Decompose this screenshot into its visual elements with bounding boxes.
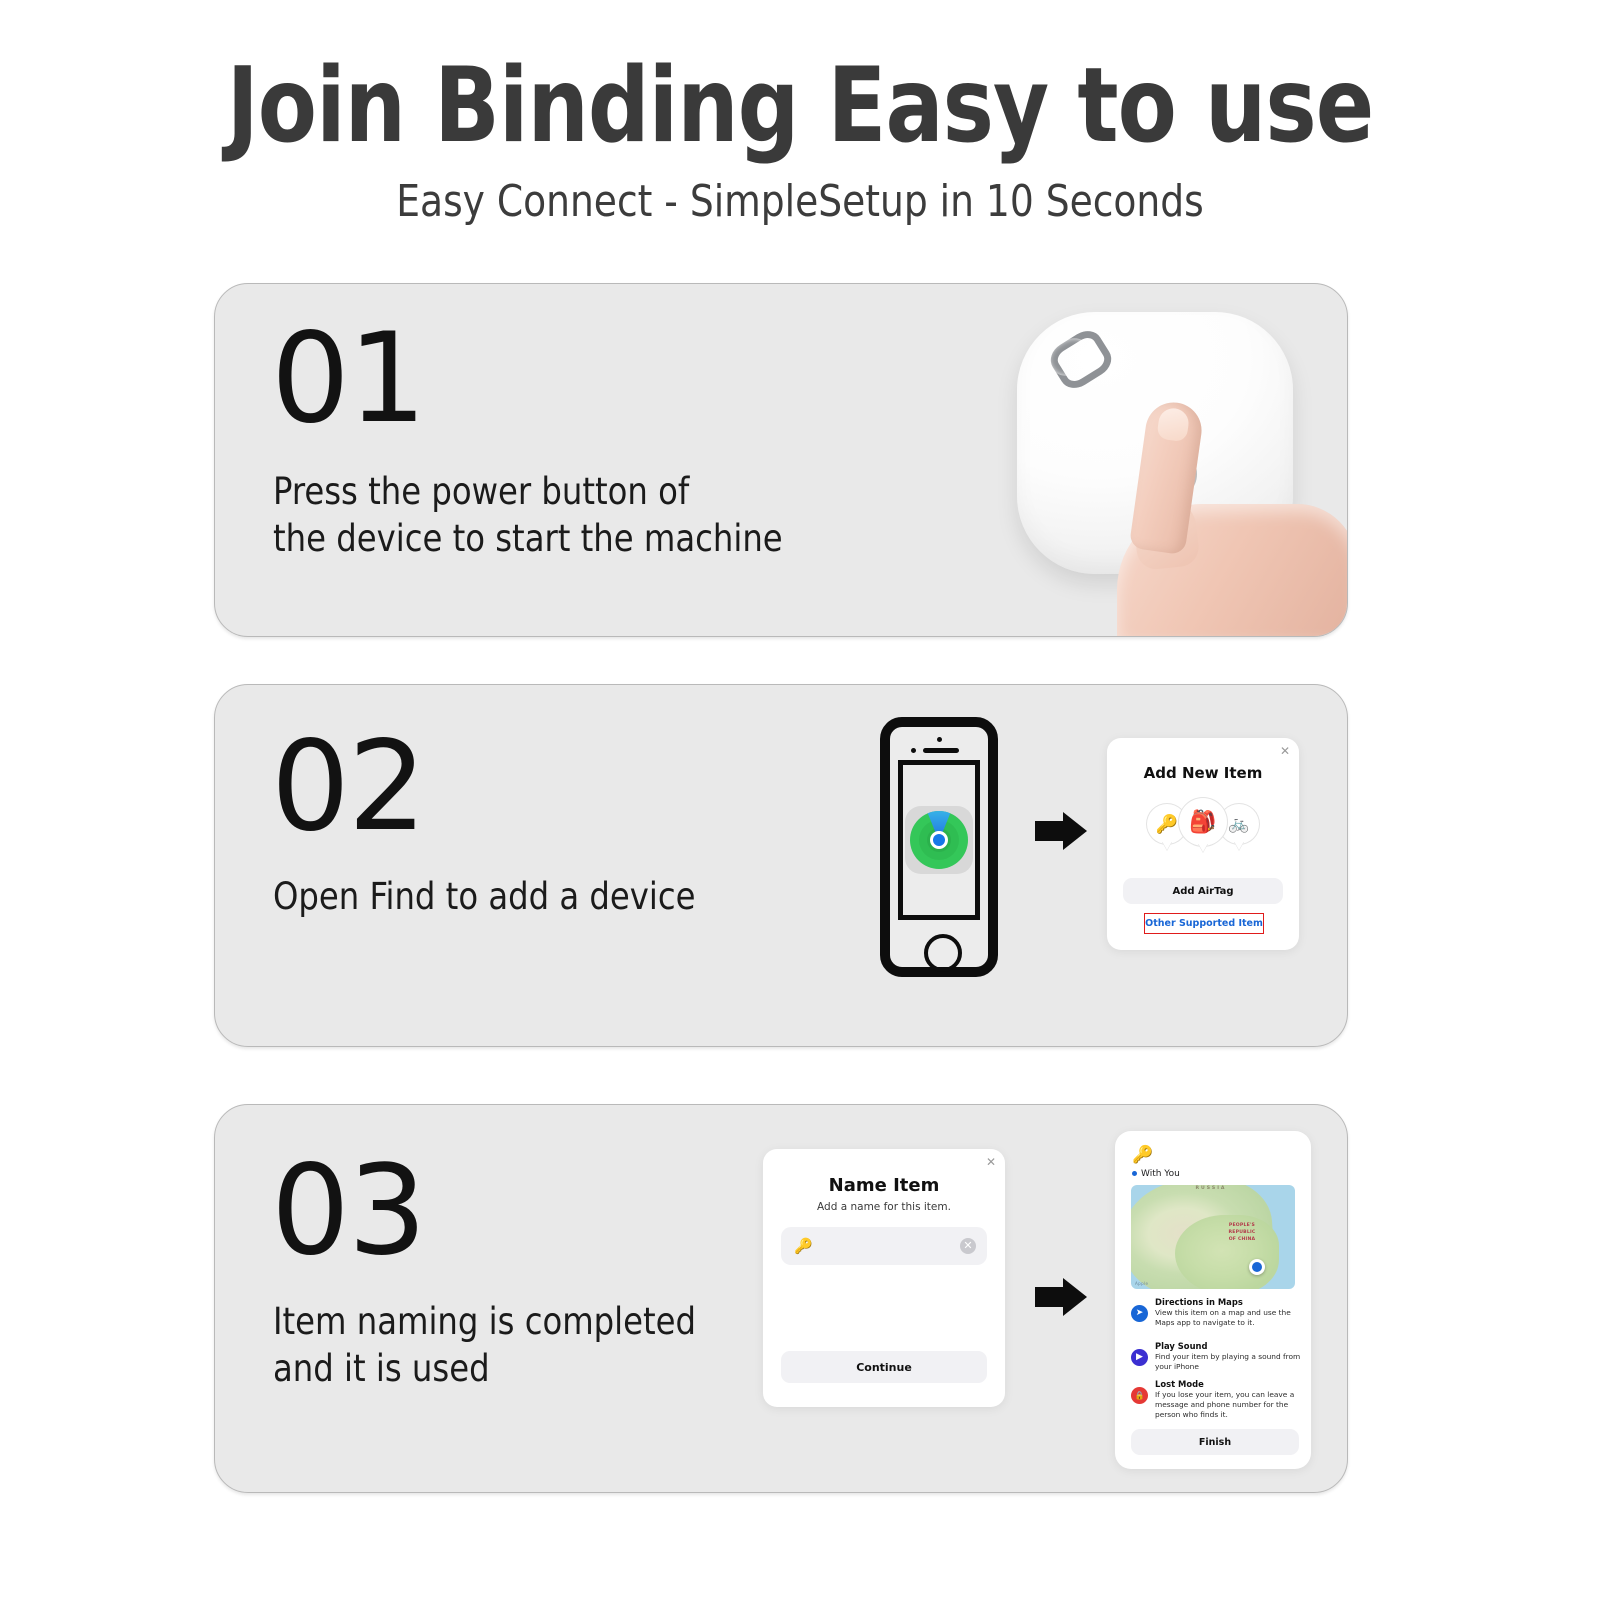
home-button[interactable] (924, 934, 962, 972)
step2-artwork: ✕ Add New Item 🔑 🚲 🎒 Add AirTag Other Su… (855, 685, 1347, 1046)
front-camera-icon (937, 737, 942, 742)
option-title: Play Sound (1155, 1341, 1207, 1351)
finish-button[interactable]: Finish (1131, 1429, 1299, 1455)
close-icon[interactable]: ✕ (986, 1156, 996, 1168)
arrow-head (1063, 812, 1087, 850)
page-title: Join Binding Easy to use (56, 52, 1544, 160)
artwork-clip (975, 284, 1347, 636)
item-key-icon: 🔑 (1132, 1145, 1153, 1165)
step-card-03: 03 Item naming is completed and it is us… (214, 1104, 1348, 1493)
add-new-item-dialog: ✕ Add New Item 🔑 🚲 🎒 Add AirTag Other Su… (1107, 738, 1299, 950)
tracker-artwork (975, 284, 1347, 636)
map-country-label: PEOPLE'S REPUBLIC OF CHINA (1217, 1223, 1267, 1244)
sensor-dot (911, 748, 916, 753)
step-description-01: Press the power button of the device to … (273, 468, 783, 563)
step-card-02: 02 Open Find to add a device (214, 684, 1348, 1047)
hand-illustration (1123, 402, 1347, 636)
option-body: Find your item by playing a sound from y… (1155, 1352, 1301, 1372)
other-supported-item-link[interactable]: Other Supported Item (1144, 913, 1264, 934)
dialog-title: Name Item (763, 1175, 1005, 1196)
directions-icon: ➤ (1131, 1305, 1148, 1322)
option-title: Directions in Maps (1155, 1297, 1243, 1307)
step3-artwork: ✕ Name Item Add a name for this item. 🔑 … (735, 1105, 1347, 1492)
close-icon[interactable]: ✕ (1280, 745, 1290, 757)
earpiece-speaker (923, 748, 959, 753)
arrow-shaft (1035, 821, 1065, 841)
option-body: If you lose your item, you can leave a m… (1155, 1390, 1301, 1421)
step-number-02: 02 (271, 725, 425, 849)
clear-input-icon[interactable]: ✕ (960, 1238, 976, 1254)
step-card-01: 01 Press the power button of the device … (214, 283, 1348, 637)
item-name-input[interactable]: 🔑 ✕ (781, 1227, 987, 1265)
find-my-icon[interactable] (905, 806, 973, 874)
name-item-dialog: ✕ Name Item Add a name for this item. 🔑 … (763, 1149, 1005, 1407)
backpack-bubble-icon: 🎒 (1179, 798, 1227, 846)
option-title: Lost Mode (1155, 1379, 1204, 1389)
page-header: Join Binding Easy to use Easy Connect - … (0, 0, 1600, 250)
iphone-mockup (880, 717, 998, 977)
map-credit: Apple (1135, 1281, 1148, 1286)
step-number-03: 03 (271, 1149, 425, 1273)
dialog-title: Add New Item (1107, 764, 1299, 782)
status-label: With You (1141, 1169, 1180, 1179)
map-top-label: RUSSIA (1181, 1186, 1241, 1191)
play-sound-icon: ▶ (1131, 1349, 1148, 1366)
arrow-shaft (1035, 1287, 1065, 1307)
item-status: With You (1132, 1169, 1180, 1179)
item-type-bubbles: 🔑 🚲 🎒 (1133, 796, 1273, 854)
add-airtag-button[interactable]: Add AirTag (1123, 878, 1283, 904)
key-icon: 🔑 (794, 1237, 813, 1255)
dialog-subtitle: Add a name for this item. (763, 1201, 1005, 1213)
status-dot-icon (1132, 1171, 1137, 1176)
step-number-01: 01 (271, 317, 425, 441)
lost-mode-icon: 🔒 (1131, 1387, 1148, 1404)
radar-graphic (910, 811, 968, 869)
step-description-03: Item naming is completed and it is used (273, 1298, 696, 1393)
phone-screen (898, 760, 980, 920)
item-detail-panel: 🔑 With You RUSSIA PEOPLE'S REPUBLIC OF C… (1115, 1131, 1311, 1469)
option-body: View this item on a map and use the Maps… (1155, 1308, 1301, 1328)
step-description-02: Open Find to add a device (273, 873, 695, 920)
finger-nail (1156, 406, 1190, 442)
map-preview[interactable]: RUSSIA PEOPLE'S REPUBLIC OF CHINA Apple (1131, 1185, 1295, 1289)
arrow-head (1063, 1278, 1087, 1316)
page-subtitle: Easy Connect - SimpleSetup in 10 Seconds (40, 178, 1560, 226)
continue-button[interactable]: Continue (781, 1351, 987, 1383)
location-pin-icon (1249, 1259, 1265, 1275)
radar-center-dot (933, 834, 945, 846)
